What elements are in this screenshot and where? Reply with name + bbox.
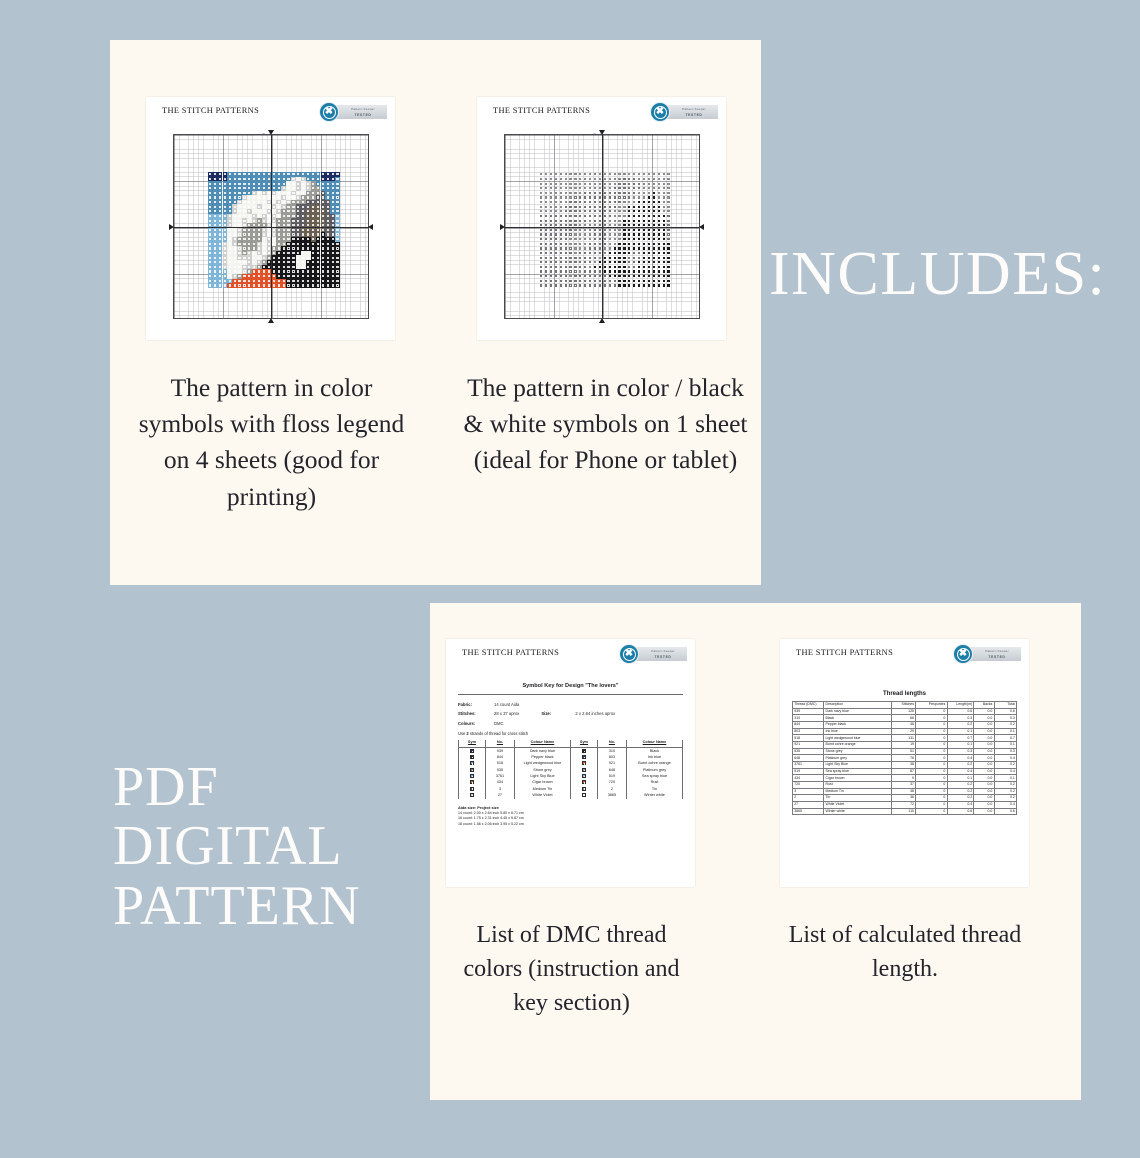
table-cell: 0.2 bbox=[947, 761, 974, 768]
table-cell: 0 bbox=[916, 768, 947, 775]
table-cell: 0.4 bbox=[994, 755, 1016, 762]
table-cell: 0.2 bbox=[947, 795, 974, 802]
swatch-icon bbox=[582, 774, 586, 778]
sheet-title: THE STITCH PATTERNS bbox=[462, 648, 559, 657]
swatch-icon bbox=[582, 780, 586, 784]
stitches-label: Stitches: bbox=[458, 711, 494, 716]
table-cell: Rust bbox=[824, 781, 891, 788]
thread-lengths-body: Thread lengths Thread (DMC)DescriptionSt… bbox=[780, 669, 1029, 815]
table-cell: 0.0 bbox=[974, 788, 994, 795]
sheet-thread-lengths[interactable]: THE STITCH PATTERNS Pattern Keeper TESTE… bbox=[780, 639, 1029, 887]
table-cell: 38 bbox=[891, 761, 916, 768]
swatch-icon bbox=[582, 787, 586, 791]
table-row: 535Stone grey5100.30.00.3 bbox=[793, 748, 1017, 755]
sheet-header: THE STITCH PATTERNS Pattern Keeper TESTE… bbox=[146, 97, 395, 127]
center-marker-bottom-icon bbox=[268, 318, 274, 323]
table-cell: 0 bbox=[916, 741, 947, 748]
pattern-keeper-badge: Pattern Keeper TESTED ✖ bbox=[644, 102, 718, 122]
swatch-icon bbox=[470, 768, 474, 772]
divider bbox=[458, 694, 683, 695]
chart-grid[interactable] bbox=[173, 134, 369, 319]
table-cell: Burnt ochre orange bbox=[824, 741, 891, 748]
table-cell: 0.0 bbox=[974, 715, 994, 722]
table-cell: 0.3 bbox=[947, 748, 974, 755]
badge-x-icon: ✖ bbox=[623, 648, 636, 661]
pattern-keeper-badge: Pattern Keeper TESTED ✖ bbox=[947, 644, 1021, 664]
sheet-symbol-key[interactable]: THE STITCH PATTERNS Pattern Keeper TESTE… bbox=[446, 639, 695, 887]
sheet-title: THE STITCH PATTERNS bbox=[162, 106, 259, 115]
swatch-icon bbox=[582, 761, 586, 765]
table-cell: White Violet bbox=[514, 792, 570, 798]
table-cell: 72 bbox=[891, 801, 916, 808]
stitch-cell bbox=[666, 283, 671, 288]
table-cell: 310 bbox=[793, 715, 824, 722]
chart-color-wrap: The lovers bbox=[173, 134, 369, 319]
swatch-icon bbox=[582, 755, 586, 759]
table-body: 939Dark navy blue310Black844Pepper black… bbox=[459, 748, 683, 799]
table-cell: Sea spray blue bbox=[824, 768, 891, 775]
table-cell: 0.1 bbox=[947, 775, 974, 782]
pattern-keeper-badge: Pattern Keeper TESTED ✖ bbox=[613, 644, 687, 664]
table-cell: 0.3 bbox=[994, 715, 1016, 722]
table-body: 939Dark navy blue12500.60.00.6310Black66… bbox=[793, 708, 1017, 815]
column-header: Stitches bbox=[891, 702, 916, 709]
colours-label: Colours: bbox=[458, 721, 494, 726]
badge-ribbon-line1: Pattern Keeper bbox=[672, 107, 716, 111]
pdf-line-2: DIGITAL bbox=[113, 817, 361, 876]
table-cell: 3 bbox=[793, 788, 824, 795]
table-row: 720Rust3700.20.00.2 bbox=[793, 781, 1017, 788]
swatch-icon bbox=[582, 768, 586, 772]
table-cell: 27 bbox=[793, 801, 824, 808]
table-cell: Winter white bbox=[824, 808, 891, 815]
colours-value: DMC bbox=[494, 721, 504, 726]
table-cell: 0.0 bbox=[974, 721, 994, 728]
swatch-icon bbox=[470, 761, 474, 765]
table-cell: 0 bbox=[916, 761, 947, 768]
swatch-icon bbox=[582, 749, 586, 753]
table-cell: 0.0 bbox=[974, 761, 994, 768]
table-cell: 27 bbox=[485, 792, 514, 798]
table-row: 518Light wedgewood blue13100.70.00.7 bbox=[793, 735, 1017, 742]
table-header-row: Thread (DMC)DescriptionStitchesPespuntes… bbox=[793, 702, 1017, 709]
symbol-key-body: Symbol Key for Design "The lovers" Fabri… bbox=[446, 669, 695, 827]
table-cell: 0.3 bbox=[994, 748, 1016, 755]
badge-ribbon-line2: TESTED bbox=[341, 113, 385, 117]
table-cell: 0 bbox=[916, 755, 947, 762]
caption-color-symbols: The pattern in color symbols with floss … bbox=[134, 370, 409, 515]
column-header: Backs bbox=[974, 702, 994, 709]
sheet-header: THE STITCH PATTERNS Pattern Keeper TESTE… bbox=[446, 639, 695, 669]
chart-bw-wrap: The lovers bbox=[504, 134, 700, 319]
table-row: 434Cigar brown900.10.00.1 bbox=[793, 775, 1017, 782]
table-cell: 0 bbox=[916, 781, 947, 788]
pattern-artwork-color bbox=[198, 158, 345, 297]
aida-title: Aida size: Project size bbox=[458, 805, 499, 810]
column-header: Length(m) bbox=[947, 702, 974, 709]
swatch-icon bbox=[470, 780, 474, 784]
table-cell: Cigar brown bbox=[824, 775, 891, 782]
table-cell: 0.3 bbox=[947, 715, 974, 722]
strands-note: Use 2 strands of thread for cross stitch bbox=[458, 731, 683, 736]
table-cell: 9 bbox=[891, 775, 916, 782]
badge-ribbon: Pattern Keeper TESTED bbox=[631, 647, 687, 661]
column-header: Colour Name bbox=[626, 740, 682, 748]
table-cell: 0.2 bbox=[947, 721, 974, 728]
thread-lengths-table: Thread (DMC)DescriptionStitchesPespuntes… bbox=[792, 701, 1017, 815]
badge-x-icon: ✖ bbox=[957, 648, 970, 661]
table-row: 939Dark navy blue310Black bbox=[459, 748, 683, 755]
table-cell: 939 bbox=[793, 708, 824, 715]
includes-heading: INCLUDES: bbox=[769, 239, 1106, 310]
badge-x-icon: ✖ bbox=[323, 106, 336, 119]
table-cell: 48 bbox=[891, 788, 916, 795]
column-header: Total bbox=[994, 702, 1016, 709]
table-cell: 0 bbox=[916, 808, 947, 815]
table-cell: 0.0 bbox=[974, 748, 994, 755]
column-header: Pespuntes bbox=[916, 702, 947, 709]
table-cell: 0.2 bbox=[994, 781, 1016, 788]
table-cell: 0.4 bbox=[947, 755, 974, 762]
table-cell: Winter white bbox=[626, 792, 682, 798]
table-cell: 0 bbox=[916, 735, 947, 742]
table-cell: 0.0 bbox=[974, 795, 994, 802]
table-row: 648Platinum grey7600.40.00.4 bbox=[793, 755, 1017, 762]
pdf-line-3: PATTERN bbox=[113, 877, 361, 936]
center-axis-vertical bbox=[602, 135, 603, 318]
table-cell: 37 bbox=[891, 781, 916, 788]
table-cell: 110 bbox=[891, 808, 916, 815]
caption-dmc-list: List of DMC thread colors (instruction a… bbox=[448, 918, 695, 1020]
table-cell: Stone grey bbox=[824, 748, 891, 755]
sheet-color-pattern[interactable]: THE STITCH PATTERNS Pattern Keeper TESTE… bbox=[146, 97, 395, 340]
table-row: 939Dark navy blue12500.60.00.6 bbox=[793, 708, 1017, 715]
pdf-digital-pattern-heading: PDF DIGITAL PATTERN bbox=[113, 758, 361, 936]
table-cell: 0.0 bbox=[974, 801, 994, 808]
table-cell: Black bbox=[824, 715, 891, 722]
table-cell: Black bbox=[626, 748, 682, 755]
column-header: No. bbox=[485, 740, 514, 748]
table-cell: 0.0 bbox=[974, 741, 994, 748]
table-cell: 0 bbox=[916, 728, 947, 735]
badge-ribbon-line1: Pattern Keeper bbox=[341, 107, 385, 111]
table-cell: 2 bbox=[793, 795, 824, 802]
table-cell: 535 bbox=[793, 748, 824, 755]
table-cell: 125 bbox=[891, 708, 916, 715]
swatch-icon bbox=[470, 755, 474, 759]
fabric-value: 14 count Aida bbox=[494, 702, 519, 707]
pattern-keeper-badge: Pattern Keeper TESTED ✖ bbox=[313, 102, 387, 122]
table-cell: 0.6 bbox=[994, 808, 1016, 815]
table-cell: 0.2 bbox=[994, 795, 1016, 802]
table-cell: 0 bbox=[916, 795, 947, 802]
table-cell: Light Sky Blue bbox=[824, 761, 891, 768]
table-row: 27White Violet7200.40.00.4 bbox=[793, 801, 1017, 808]
table-row: 310Black6600.30.00.3 bbox=[793, 715, 1017, 722]
table-row: 27White Violet3865Winter white bbox=[459, 792, 683, 798]
table-row: 3761Light Sky Blue3800.20.00.2 bbox=[793, 761, 1017, 768]
table-cell: 0.6 bbox=[947, 708, 974, 715]
table-row: 519Sea spray blue8700.40.00.4 bbox=[793, 768, 1017, 775]
badge-ribbon-line1: Pattern Keeper bbox=[975, 649, 1019, 653]
column-header: Thread (DMC) bbox=[793, 702, 824, 709]
sheet-header: THE STITCH PATTERNS Pattern Keeper TESTE… bbox=[477, 97, 726, 127]
stitch-cell bbox=[335, 283, 340, 288]
stitches-value: 28 x 37 aprox bbox=[494, 711, 519, 716]
table-cell: Dark navy blue bbox=[514, 748, 570, 755]
center-marker-bottom-icon bbox=[599, 318, 605, 323]
badge-seal-icon: ✖ bbox=[619, 644, 639, 664]
table-row: 3865Winter white11000.60.00.6 bbox=[793, 808, 1017, 815]
table-cell: 0 bbox=[916, 748, 947, 755]
table-cell: 0.0 bbox=[974, 808, 994, 815]
table-cell: 310 bbox=[597, 748, 626, 755]
table-cell: 3865 bbox=[597, 792, 626, 798]
table-cell: White Violet bbox=[824, 801, 891, 808]
table-cell: 519 bbox=[793, 768, 824, 775]
pdf-line-1: PDF bbox=[113, 758, 361, 817]
center-marker-right-icon bbox=[368, 224, 373, 230]
symbol-key-table: SymNo.Colour NameSymNo.Colour Name 939Da… bbox=[458, 740, 683, 799]
caption-thread-length: List of calculated thread length. bbox=[778, 918, 1032, 986]
sheet-header: THE STITCH PATTERNS Pattern Keeper TESTE… bbox=[780, 639, 1029, 669]
swatch-icon bbox=[470, 787, 474, 791]
table-cell: 36 bbox=[891, 795, 916, 802]
table-cell: 0.0 bbox=[974, 768, 994, 775]
table-cell: 87 bbox=[891, 768, 916, 775]
badge-ribbon-line2: TESTED bbox=[641, 655, 685, 659]
badge-ribbon: Pattern Keeper TESTED bbox=[331, 105, 387, 119]
aida-size-block: Aida size: Project size 14 count: 2.00 x… bbox=[458, 805, 683, 828]
badge-seal-icon: ✖ bbox=[319, 102, 339, 122]
table-cell: 0.7 bbox=[947, 735, 974, 742]
center-marker-right-icon bbox=[699, 224, 704, 230]
table-cell: Light wedgewood blue bbox=[824, 735, 891, 742]
swatch-icon bbox=[470, 749, 474, 753]
table-row: 2Tin3600.20.00.2 bbox=[793, 795, 1017, 802]
table-row: 803Ink blue2900.10.00.1 bbox=[793, 728, 1017, 735]
table-cell: 0.1 bbox=[994, 741, 1016, 748]
table-cell: 0.7 bbox=[994, 735, 1016, 742]
table-cell: 648 bbox=[793, 755, 824, 762]
badge-x-icon: ✖ bbox=[654, 106, 667, 119]
column-header: Sym bbox=[570, 740, 597, 748]
table-cell: 131 bbox=[891, 735, 916, 742]
badge-ribbon-line1: Pattern Keeper bbox=[641, 649, 685, 653]
swatch-icon bbox=[470, 774, 474, 778]
table-cell: 0 bbox=[916, 708, 947, 715]
table-cell: 51 bbox=[891, 748, 916, 755]
table-cell: 3761 bbox=[793, 761, 824, 768]
table-cell: 0 bbox=[916, 721, 947, 728]
thread-lengths-title: Thread lengths bbox=[792, 691, 1017, 697]
table-cell: 0.0 bbox=[974, 781, 994, 788]
table-cell: 803 bbox=[793, 728, 824, 735]
table-cell: 0.2 bbox=[994, 761, 1016, 768]
table-cell: 0.2 bbox=[947, 788, 974, 795]
table-cell: 0.6 bbox=[994, 708, 1016, 715]
table-cell: 0.1 bbox=[947, 741, 974, 748]
column-header: Sym bbox=[459, 740, 486, 748]
table-cell: 0 bbox=[916, 775, 947, 782]
color-swatch bbox=[570, 748, 597, 755]
table-cell: 0.1 bbox=[994, 775, 1016, 782]
table-cell: 0.0 bbox=[974, 735, 994, 742]
table-cell: 921 bbox=[793, 741, 824, 748]
table-cell: Ink blue bbox=[824, 728, 891, 735]
color-swatch bbox=[459, 748, 486, 755]
table-cell: 46 bbox=[891, 721, 916, 728]
color-swatch bbox=[570, 792, 597, 798]
column-header: Colour Name bbox=[514, 740, 570, 748]
strands-note-post: strands of thread for cross stitch bbox=[469, 731, 528, 736]
table-cell: 0.4 bbox=[947, 801, 974, 808]
table-row: 3Medium Tin4800.20.00.2 bbox=[793, 788, 1017, 795]
table-cell: 0.0 bbox=[974, 755, 994, 762]
table-cell: 0.0 bbox=[974, 728, 994, 735]
table-cell: 66 bbox=[891, 715, 916, 722]
stitches-row: Stitches: 28 x 37 aprox Size: 2 x 2.64 i… bbox=[458, 711, 683, 716]
aida-line: 18 count: 1.56 x 2.06 inch 3.95 x 5.22 c… bbox=[458, 822, 683, 827]
swatch-icon bbox=[582, 793, 586, 797]
colours-row: Colours: DMC bbox=[458, 721, 683, 726]
pattern-artwork-bw bbox=[529, 158, 676, 297]
badge-ribbon-line2: TESTED bbox=[975, 655, 1019, 659]
table-cell: 518 bbox=[793, 735, 824, 742]
sheet-title: THE STITCH PATTERNS bbox=[493, 106, 590, 115]
sheet-bw-pattern[interactable]: THE STITCH PATTERNS Pattern Keeper TESTE… bbox=[477, 97, 726, 340]
center-marker-left-icon bbox=[500, 224, 505, 230]
table-cell: 76 bbox=[891, 755, 916, 762]
table-cell: 0.6 bbox=[947, 808, 974, 815]
chart-grid[interactable] bbox=[504, 134, 700, 319]
column-header: No. bbox=[597, 740, 626, 748]
poster-canvas: THE STITCH PATTERNS Pattern Keeper TESTE… bbox=[0, 0, 1140, 1158]
table-cell: 0.4 bbox=[994, 768, 1016, 775]
color-swatch bbox=[459, 792, 486, 798]
table-cell: 0 bbox=[916, 801, 947, 808]
center-marker-top-icon bbox=[599, 130, 605, 135]
size-label: Size: bbox=[541, 711, 575, 716]
table-cell: 844 bbox=[793, 721, 824, 728]
table-cell: Tin bbox=[824, 795, 891, 802]
badge-seal-icon: ✖ bbox=[953, 644, 973, 664]
table-cell: 0.4 bbox=[994, 801, 1016, 808]
badge-seal-icon: ✖ bbox=[650, 102, 670, 122]
table-cell: 939 bbox=[485, 748, 514, 755]
sheet-title: THE STITCH PATTERNS bbox=[796, 648, 893, 657]
fabric-label: Fabric: bbox=[458, 702, 494, 707]
table-cell: 0 bbox=[916, 715, 947, 722]
table-cell: 19 bbox=[891, 741, 916, 748]
badge-ribbon: Pattern Keeper TESTED bbox=[965, 647, 1021, 661]
table-header-row: SymNo.Colour NameSymNo.Colour Name bbox=[459, 740, 683, 748]
badge-ribbon-line2: TESTED bbox=[672, 113, 716, 117]
table-cell: 29 bbox=[891, 728, 916, 735]
table-cell: 3865 bbox=[793, 808, 824, 815]
table-cell: 434 bbox=[793, 775, 824, 782]
fabric-row: Fabric: 14 count Aida bbox=[458, 702, 683, 707]
table-cell: 0 bbox=[916, 788, 947, 795]
table-cell: 0.1 bbox=[994, 728, 1016, 735]
table-cell: Pepper black bbox=[824, 721, 891, 728]
table-cell: 0.0 bbox=[974, 708, 994, 715]
center-marker-left-icon bbox=[169, 224, 174, 230]
table-cell: 0.1 bbox=[947, 728, 974, 735]
symbol-key-heading: Symbol Key for Design "The lovers" bbox=[458, 683, 683, 689]
table-cell: Dark navy blue bbox=[824, 708, 891, 715]
table-cell: 720 bbox=[793, 781, 824, 788]
swatch-icon bbox=[470, 793, 474, 797]
table-cell: Platinum grey bbox=[824, 755, 891, 762]
table-cell: 0.4 bbox=[947, 768, 974, 775]
table-cell: 0.0 bbox=[974, 775, 994, 782]
column-header: Description bbox=[824, 702, 891, 709]
table-cell: Medium Tin bbox=[824, 788, 891, 795]
aida-lines: 14 count: 2.00 x 2.64 inch 5.80 x 6.71 c… bbox=[458, 811, 683, 827]
table-cell: 0.2 bbox=[994, 788, 1016, 795]
table-cell: 0.2 bbox=[947, 781, 974, 788]
table-row: 844Pepper black4600.20.00.2 bbox=[793, 721, 1017, 728]
badge-ribbon: Pattern Keeper TESTED bbox=[662, 105, 718, 119]
center-marker-top-icon bbox=[268, 130, 274, 135]
size-value: 2 x 2.64 inches aprox bbox=[575, 711, 615, 716]
table-cell: 0.2 bbox=[994, 721, 1016, 728]
center-axis-vertical bbox=[271, 135, 272, 318]
caption-bw-symbols: The pattern in color / black & white sym… bbox=[462, 370, 749, 479]
table-row: 921Burnt ochre orange1900.10.00.1 bbox=[793, 741, 1017, 748]
